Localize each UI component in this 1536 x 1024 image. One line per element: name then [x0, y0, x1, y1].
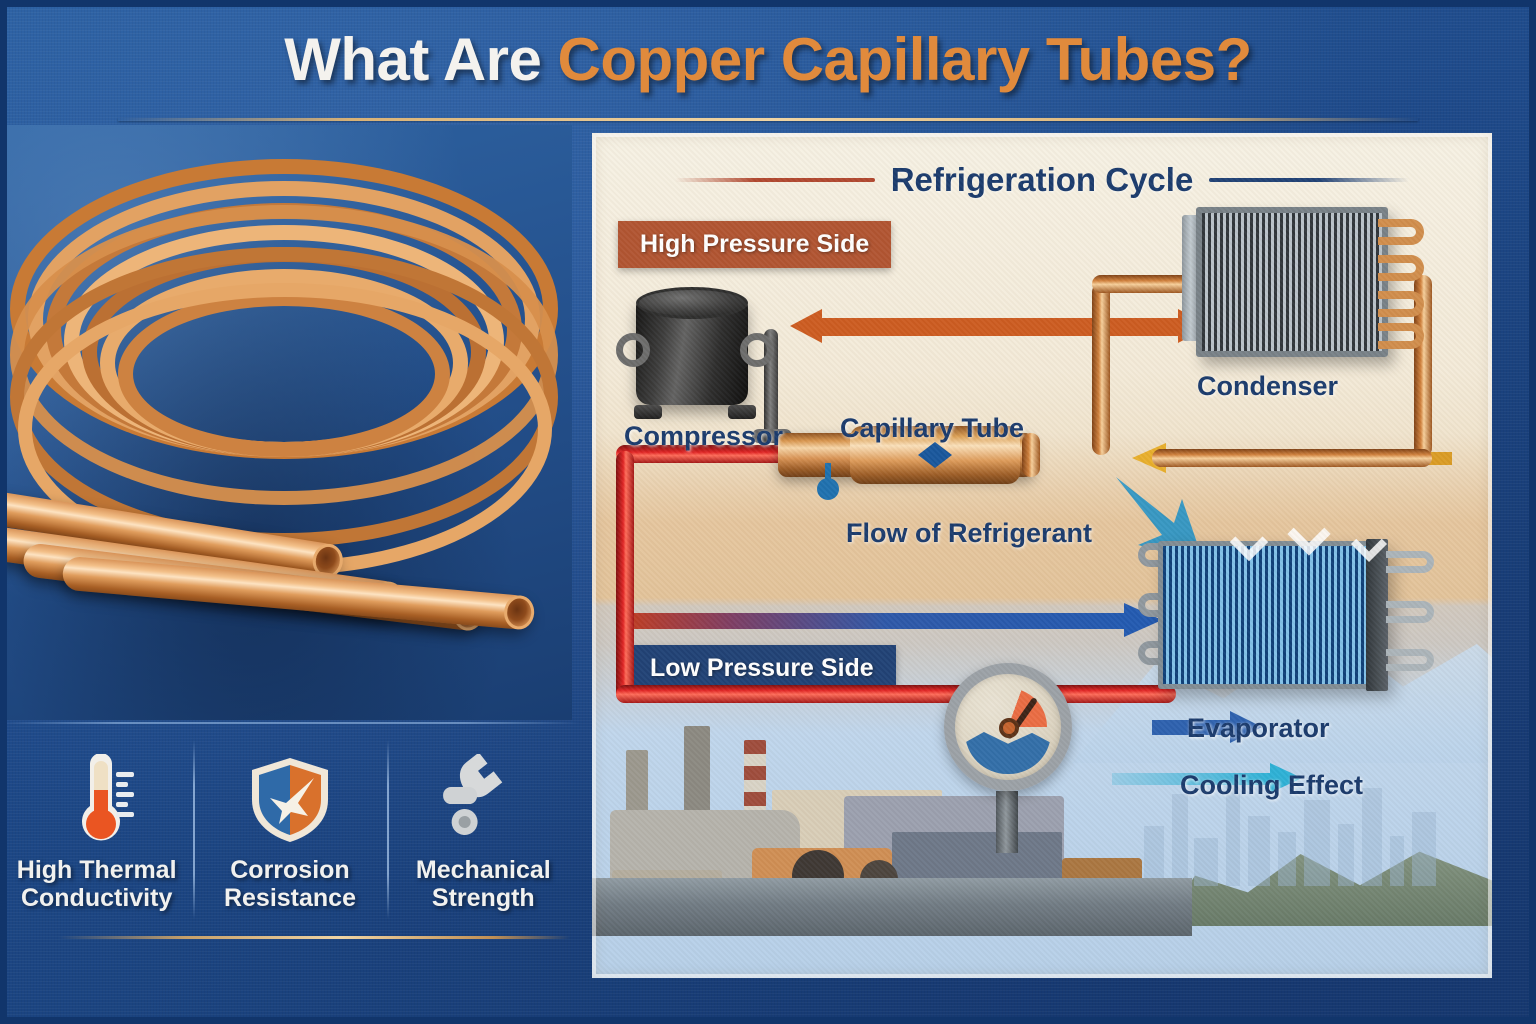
condenser-component [1182, 197, 1432, 377]
capillary-outlet-pipe [1022, 433, 1040, 477]
low-pressure-flow-arrow [622, 603, 1162, 637]
label-compressor: Compressor [624, 421, 783, 452]
feature-label: High Thermal Conductivity [17, 856, 177, 912]
copper-pipe-return [1152, 449, 1432, 467]
title-part-white: What Are [284, 26, 557, 93]
title-bar: What Are Copper Capillary Tubes? [0, 0, 1536, 118]
evaporator-component [1140, 529, 1440, 714]
heading-rule-right [1209, 178, 1409, 182]
compressor-component [620, 281, 770, 416]
infographic-page: What Are Copper Capillary Tubes? [0, 0, 1536, 1024]
ground-strip [592, 878, 1192, 936]
title-divider-rule [118, 118, 1418, 121]
title-part-orange: Copper Capillary Tubes? [558, 26, 1252, 93]
feature-corrosion-resistance[interactable]: Corrosion Resistance [193, 722, 386, 937]
label-condenser: Condenser [1197, 371, 1338, 402]
heading-rule-left [675, 178, 875, 182]
high-pressure-side-badge: High Pressure Side [618, 221, 891, 268]
hot-pipe-bottom [616, 685, 1176, 703]
high-pressure-double-arrow [790, 309, 1210, 343]
label-evaporator: Evaporator [1187, 713, 1330, 744]
wrench-icon [435, 754, 531, 846]
thermometer-icon [52, 754, 142, 846]
label-cooling-effect: Cooling Effect [1180, 770, 1363, 801]
feature-high-thermal-conductivity[interactable]: High Thermal Conductivity [0, 722, 193, 937]
page-title: What Are Copper Capillary Tubes? [284, 25, 1251, 94]
factory-scene [592, 741, 1192, 936]
flow-callout-dot [817, 478, 839, 500]
feature-strip-bottom-rule [58, 936, 570, 939]
hot-pipe-vertical [616, 451, 634, 703]
shield-icon [246, 754, 334, 846]
refrigeration-cycle-panel: Refrigeration Cycle High Pressure Side L… [592, 133, 1492, 978]
copper-pipe-riser [1092, 283, 1110, 455]
feature-mechanical-strength[interactable]: Mechanical Strength [387, 722, 580, 937]
label-flow-of-refrigerant: Flow of Refrigerant [846, 518, 1092, 549]
feature-strip: High Thermal Conductivity Corrosion Resi… [0, 722, 580, 937]
feature-label: Corrosion Resistance [224, 856, 356, 912]
label-capillary-tube: Capillary Tube [840, 413, 1024, 444]
pressure-gauge [944, 663, 1072, 853]
panel-title: Refrigeration Cycle [891, 161, 1194, 199]
straight-copper-tubes-illustration [0, 450, 552, 700]
feature-label: Mechanical Strength [416, 856, 551, 912]
copper-tubing-coil-photo [0, 125, 572, 720]
